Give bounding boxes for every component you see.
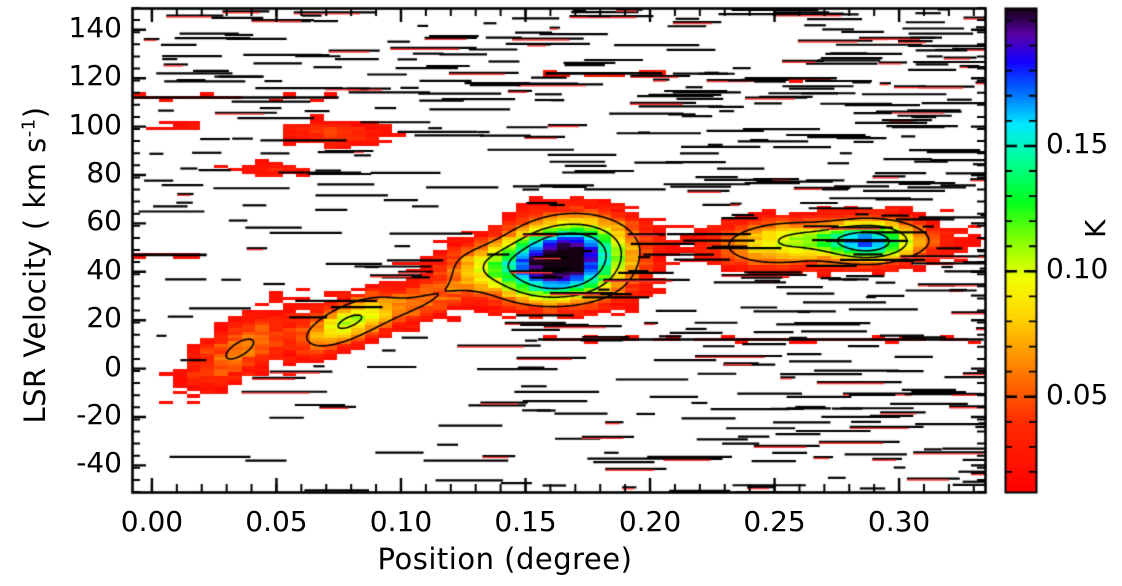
y-tick-label-60: 60 — [0, 204, 122, 237]
y-tick-label-40: 40 — [0, 253, 122, 286]
y-tick-label-100: 100 — [0, 108, 122, 141]
y-tick-label-140: 140 — [0, 11, 122, 44]
x-tick-label-0p15: 0.15 — [466, 505, 586, 538]
x-tick-label-0p20: 0.20 — [590, 505, 710, 538]
y-tick-label-0: 0 — [0, 350, 122, 383]
colorbar-unit-label: K — [1079, 220, 1112, 238]
y-tick-label-20: 20 — [0, 301, 122, 334]
y-tick-label-80: 80 — [0, 156, 122, 189]
y-tick-label-neg20: -20 — [0, 398, 122, 431]
colorbar-tick-label-0p15: 0.15 — [1046, 127, 1122, 160]
colorbar-tick-label-0p10: 0.10 — [1046, 252, 1122, 285]
x-tick-label-0p10: 0.10 — [341, 505, 461, 538]
x-axis-label: Position (degree) — [0, 542, 1010, 576]
y-tick-label-neg40: -40 — [0, 446, 122, 479]
position-velocity-heatmap — [0, 0, 1122, 586]
x-tick-label-0p05: 0.05 — [216, 505, 336, 538]
x-tick-label-0p30: 0.30 — [839, 505, 959, 538]
x-tick-label-0p00: 0.00 — [92, 505, 212, 538]
colorbar-tick-label-0p05: 0.05 — [1046, 378, 1122, 411]
y-tick-label-120: 120 — [0, 59, 122, 92]
x-tick-label-0p25: 0.25 — [715, 505, 835, 538]
pv-diagram-figure: LSR Velocity ( km s-1) Position (degree)… — [0, 0, 1122, 586]
